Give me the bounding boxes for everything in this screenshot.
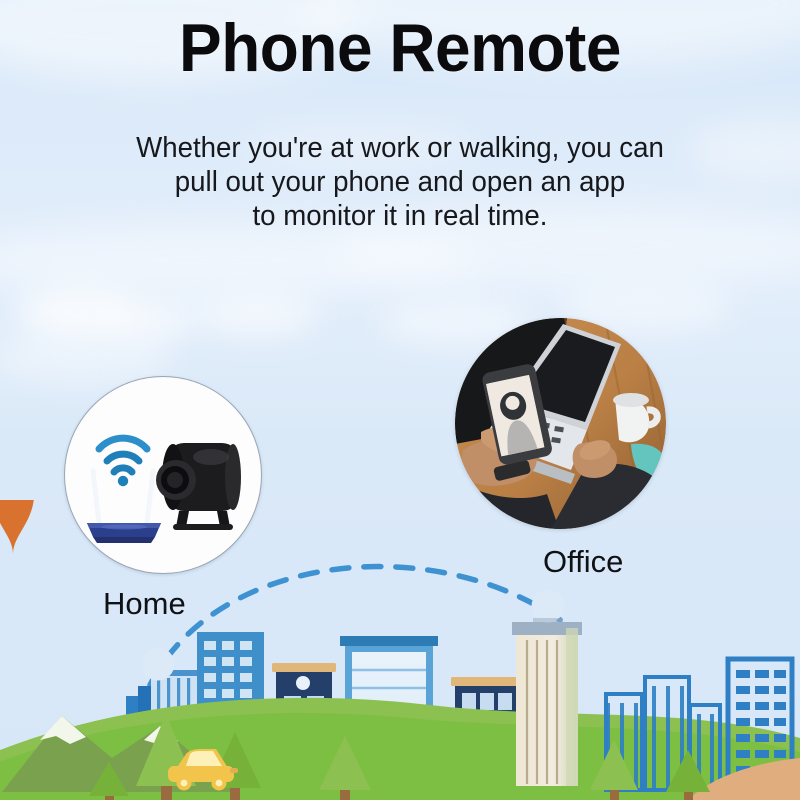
wifi-dot	[118, 476, 128, 486]
wifi-signal-icon	[99, 438, 147, 472]
subtitle-line-1: Whether you're at work or walking, you c…	[70, 131, 730, 165]
promo-banner: Phone Remote Whether you're at work or w…	[0, 0, 800, 800]
mini-camera-icon	[156, 443, 241, 530]
cloud-puff	[104, 300, 196, 342]
cloud-band	[0, 225, 480, 295]
phone-over-laptop-photo	[455, 318, 666, 529]
subtitle-line-3: to monitor it in real time.	[70, 199, 730, 233]
office-tower	[512, 622, 582, 786]
label-office: Office	[543, 544, 623, 580]
page-title: Phone Remote	[24, 14, 776, 82]
page-subtitle: Whether you're at work or walking, you c…	[70, 131, 730, 234]
subtitle-line-2: pull out your phone and open an app	[70, 165, 730, 199]
cloud-puff	[196, 292, 316, 338]
wifi-router-icon	[87, 523, 161, 543]
router-and-camera-photo	[64, 376, 262, 574]
label-home: Home	[103, 586, 186, 622]
cloud-puff	[18, 286, 138, 338]
